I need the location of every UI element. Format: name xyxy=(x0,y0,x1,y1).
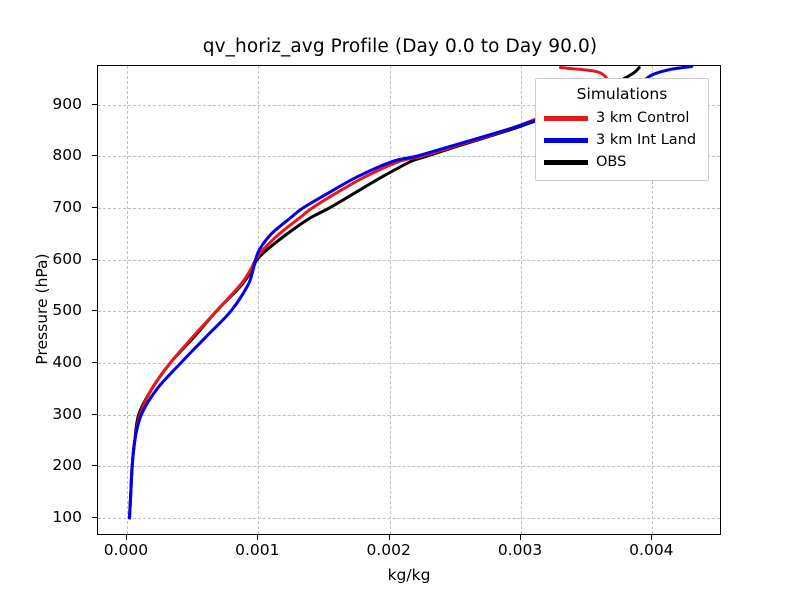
y-tick-label: 700 xyxy=(0,198,82,216)
x-tick-label: 0.001 xyxy=(235,541,279,559)
legend-item[interactable]: OBS xyxy=(544,151,700,173)
legend-item-label: 3 km Control xyxy=(596,110,689,126)
chart-figure: qv_horiz_avg Profile (Day 0.0 to Day 90.… xyxy=(0,0,800,600)
x-tick-label: 0.004 xyxy=(629,541,673,559)
legend-entries: 3 km Control3 km Int LandOBS xyxy=(544,107,700,173)
legend-color-swatch xyxy=(544,160,588,165)
legend-color-swatch xyxy=(544,138,588,143)
y-tick-label: 500 xyxy=(0,301,82,319)
legend: Simulations 3 km Control3 km Int LandOBS xyxy=(535,78,709,181)
legend-title: Simulations xyxy=(544,84,700,107)
y-tick-label: 400 xyxy=(0,353,82,371)
x-tick-label: 0.003 xyxy=(498,541,542,559)
y-tick-label: 900 xyxy=(0,95,82,113)
y-tick-label: 800 xyxy=(0,146,82,164)
legend-color-swatch xyxy=(544,116,588,121)
x-tick-label: 0.000 xyxy=(104,541,148,559)
legend-item[interactable]: 3 km Int Land xyxy=(544,129,700,151)
y-tick-label: 300 xyxy=(0,405,82,423)
legend-item[interactable]: 3 km Control xyxy=(544,107,700,129)
y-tick-label: 200 xyxy=(0,456,82,474)
y-tick-label: 100 xyxy=(0,508,82,526)
chart-title: qv_horiz_avg Profile (Day 0.0 to Day 90.… xyxy=(0,36,800,57)
legend-item-label: OBS xyxy=(596,154,626,170)
y-tick-label: 600 xyxy=(0,250,82,268)
legend-item-label: 3 km Int Land xyxy=(596,132,696,148)
x-axis-label: kg/kg xyxy=(97,566,721,584)
x-tick-label: 0.002 xyxy=(366,541,410,559)
